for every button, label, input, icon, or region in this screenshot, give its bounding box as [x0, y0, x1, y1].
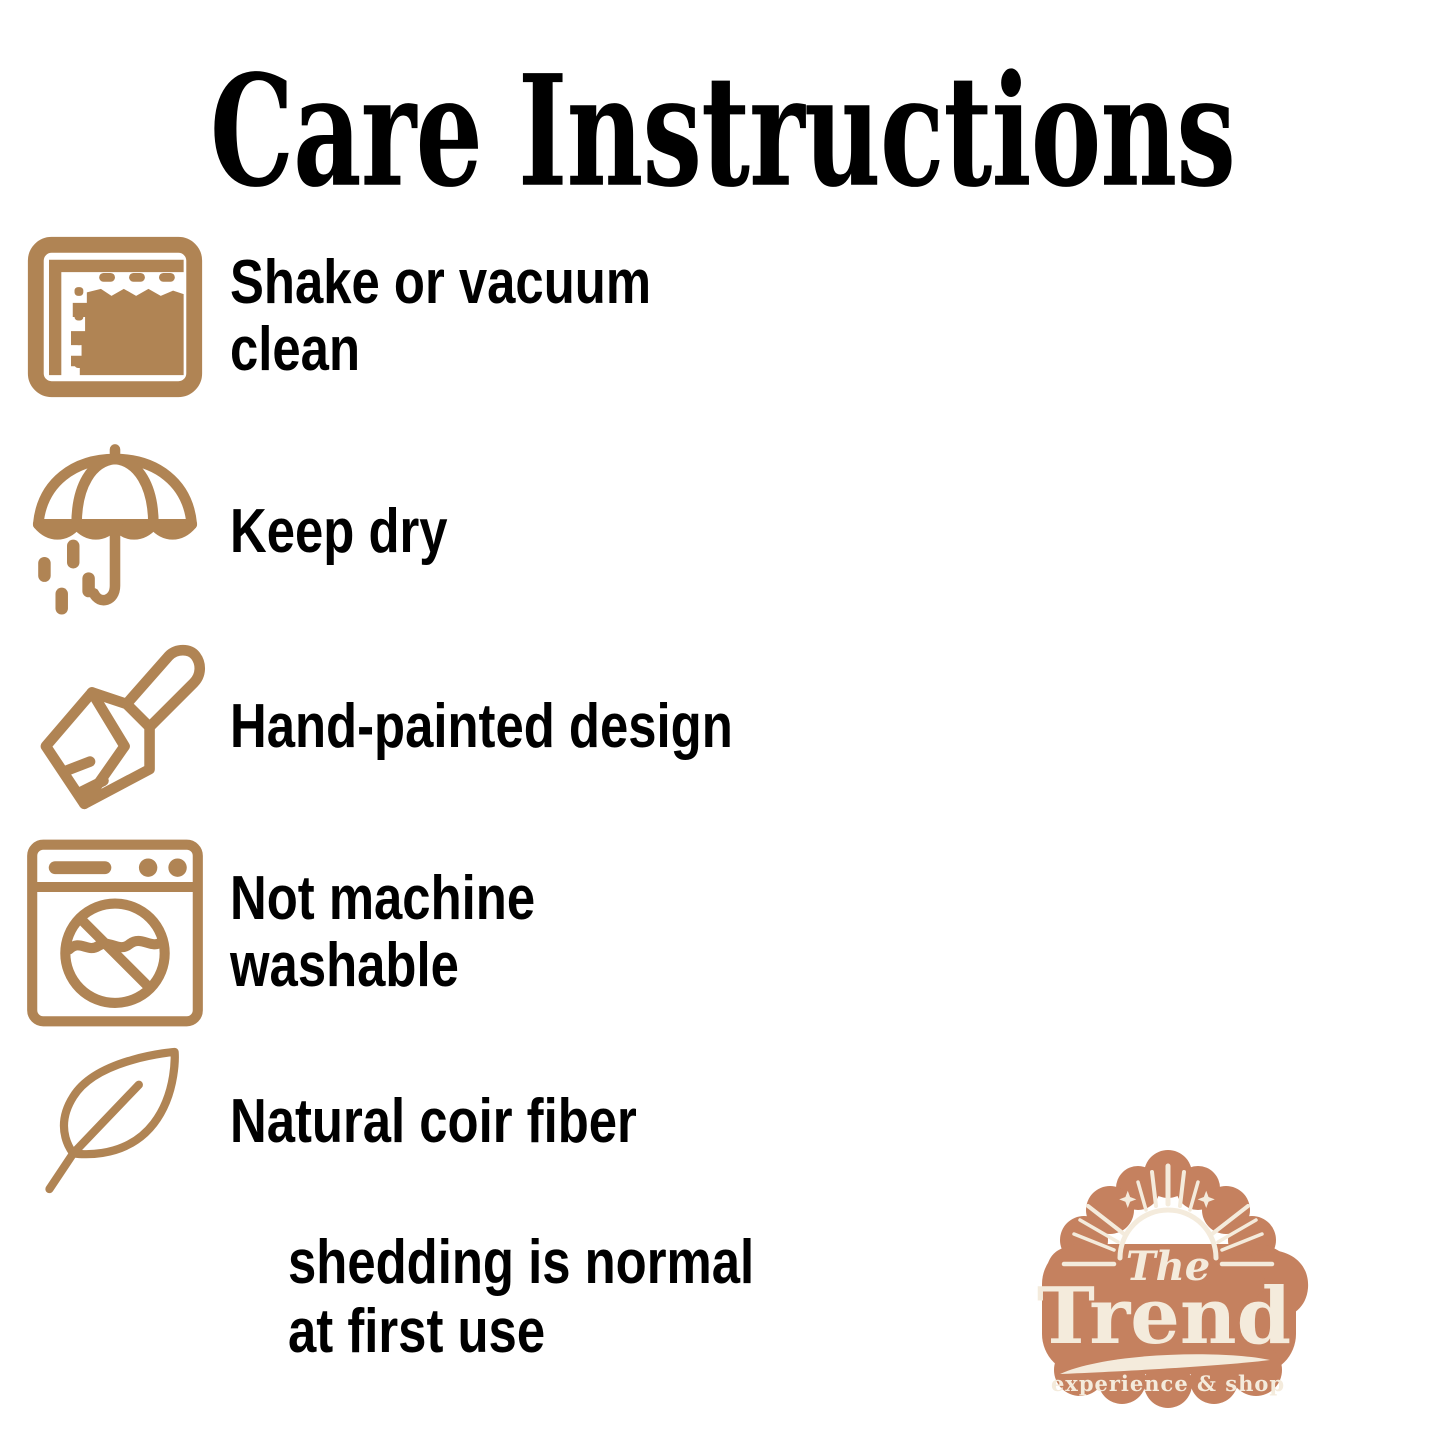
umbrella-rain-icon: [0, 436, 230, 628]
rug-icon: [0, 229, 230, 405]
leaf-icon: [0, 1043, 230, 1201]
instruction-label: Shake or vacuum clean: [230, 250, 651, 384]
paint-brush-icon: [0, 631, 230, 823]
instruction-row: Not machine washable: [0, 830, 1445, 1036]
footer-note: shedding is normal at first use: [288, 1228, 754, 1367]
logo-tagline: experience & shop: [1051, 1371, 1285, 1396]
instruction-row: Hand-painted design: [0, 632, 1445, 822]
instruction-label: Keep dry: [230, 499, 448, 566]
care-instructions-card: Care Instructions: [0, 0, 1445, 1445]
instruction-label: Not machine washable: [230, 866, 535, 1000]
no-machine-wash-icon: [0, 835, 230, 1031]
logo-trend: Trend: [1037, 1271, 1291, 1362]
page-title: Care Instructions: [145, 56, 1301, 209]
instruction-label: Natural coir fiber: [230, 1089, 637, 1156]
instruction-row: Keep dry: [0, 434, 1445, 630]
brand-logo: The Trend experience & shop: [1018, 1148, 1318, 1433]
instruction-label: Hand-painted design: [230, 694, 733, 761]
instruction-row: Shake or vacuum clean: [0, 222, 1445, 412]
